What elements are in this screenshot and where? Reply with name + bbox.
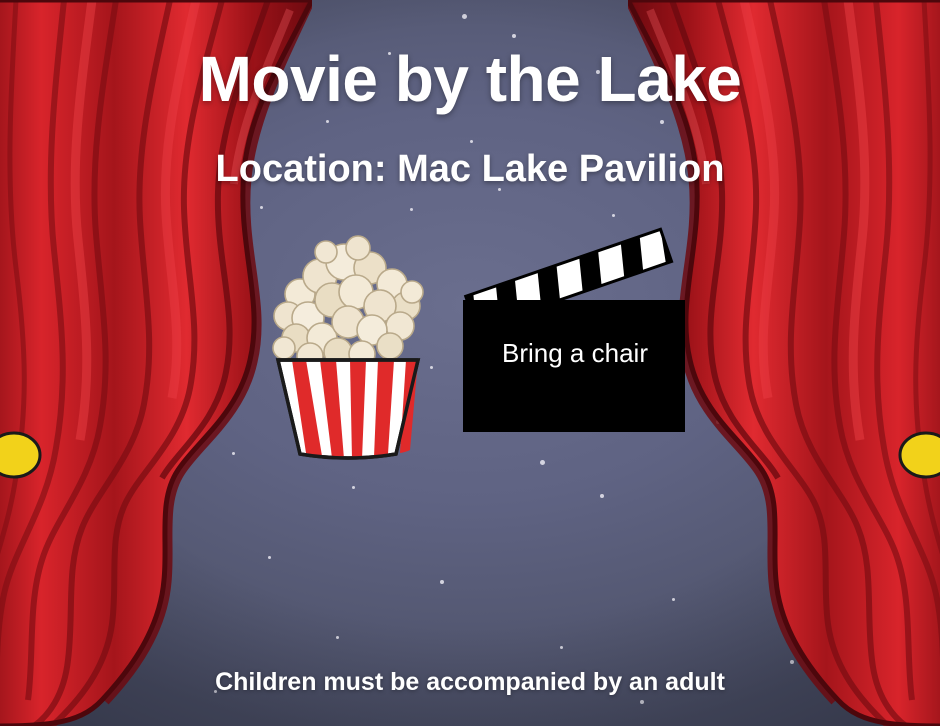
movie-poster: Bring a chair Movie by the Lake Location… [0,0,940,726]
curtain-tieback-right-icon [890,424,940,486]
footnote-text: Children must be accompanied by an adult [0,668,940,697]
popcorn-bucket-icon [248,222,448,462]
curtain-tieback-left-icon [0,424,50,486]
page-title: Movie by the Lake [0,42,940,116]
clapperboard-icon [455,222,695,457]
location-subtitle: Location: Mac Lake Pavilion [0,148,940,191]
